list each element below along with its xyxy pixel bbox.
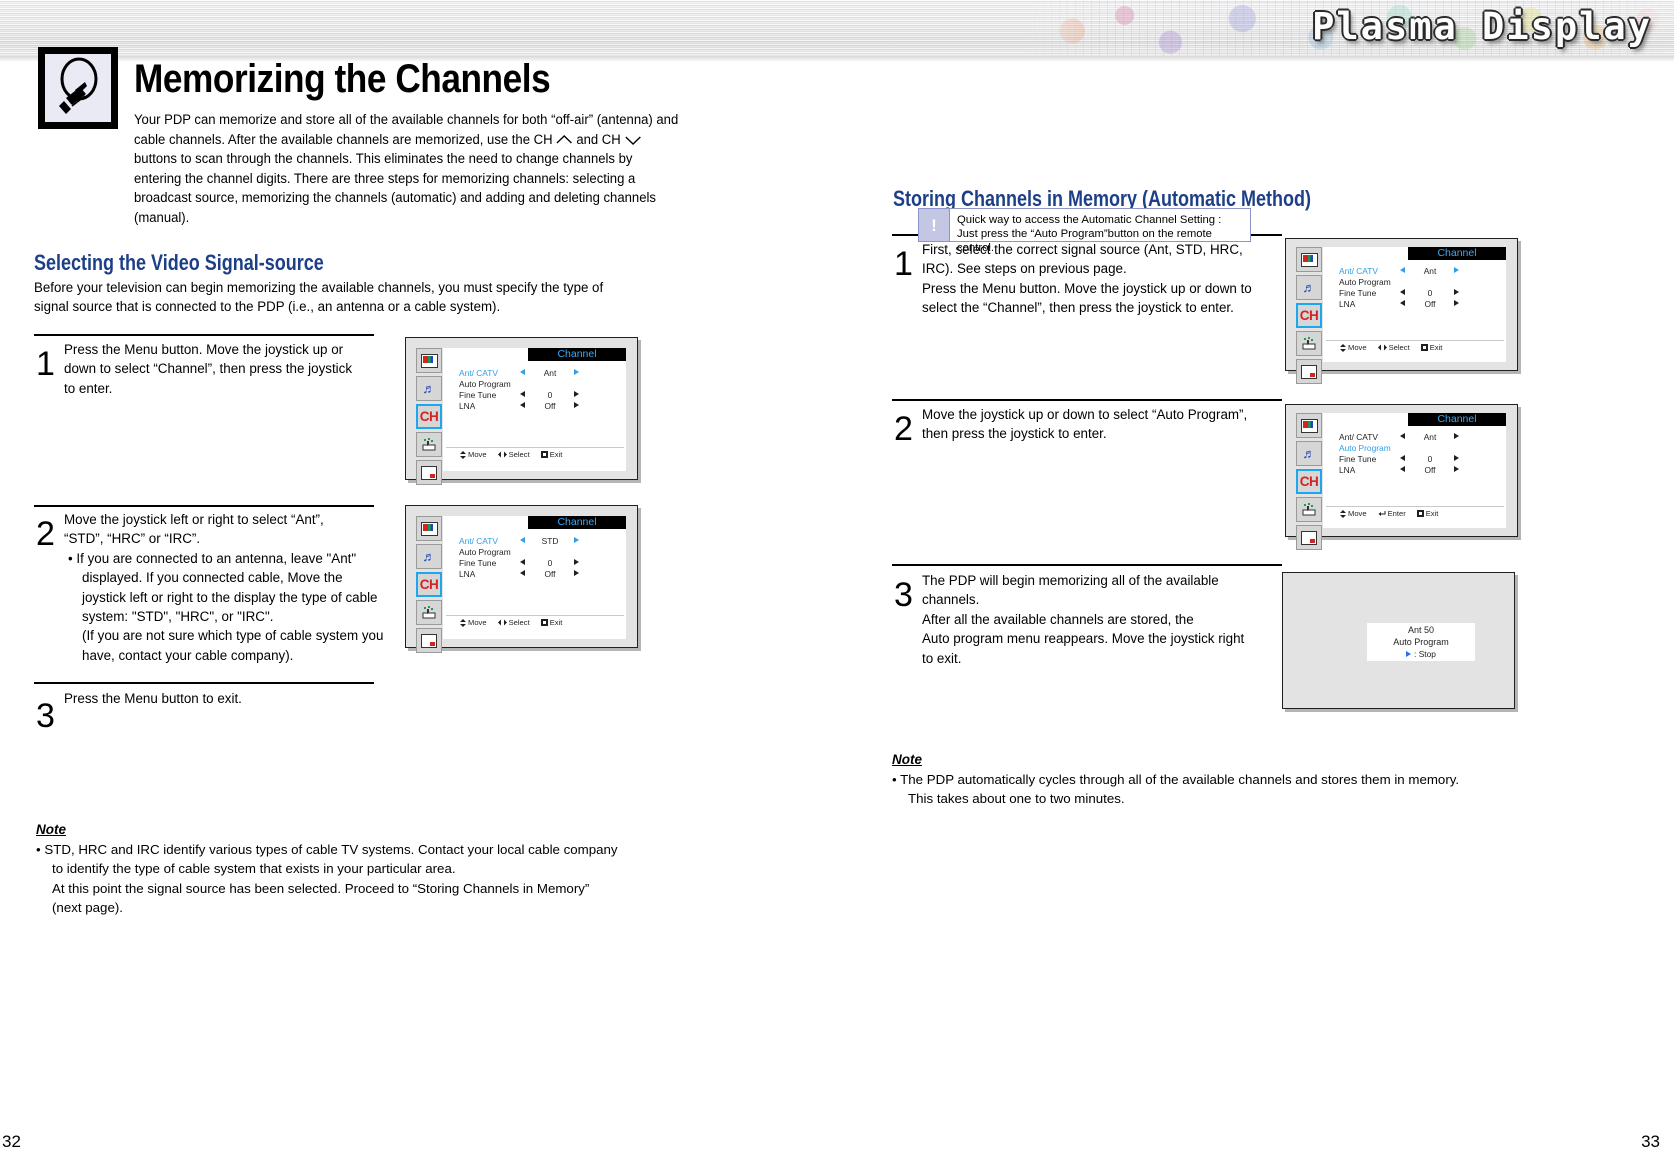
footer-move: Move [1340, 343, 1367, 352]
footer-label: Select [1389, 343, 1410, 352]
setup-icon[interactable] [416, 432, 442, 457]
note-line: (next page). [36, 898, 676, 917]
step-number: 2 [894, 412, 913, 446]
setup-icon[interactable] [1296, 497, 1322, 522]
footer-label: Exit [550, 450, 563, 459]
channel-icon[interactable]: CH [416, 404, 442, 429]
footer-select: Select [1378, 343, 1410, 352]
step-subline: joystick left or right to the display th… [64, 588, 409, 607]
channel-icon[interactable]: CH [1296, 303, 1322, 328]
osd-row-value: 0 [530, 390, 570, 400]
left-arrow-icon[interactable] [1400, 289, 1405, 295]
note-line: • STD, HRC and IRC identify various type… [36, 840, 676, 859]
left-arrow-icon[interactable] [520, 570, 525, 576]
setup-icon[interactable] [1296, 331, 1322, 356]
footer-label: Select [509, 450, 530, 459]
step-line: “STD”, “HRC” or “IRC”. [64, 531, 200, 546]
footer-label: Move [1348, 509, 1367, 518]
footer-label: Move [468, 618, 487, 627]
section-title-left: Selecting the Video Signal-source [34, 250, 324, 276]
osd-icon-rail: ♬ CH [1296, 247, 1322, 384]
footer-label: Move [1348, 343, 1367, 352]
step-divider [34, 334, 374, 336]
osd-row-label[interactable]: Fine Tune [459, 558, 496, 568]
left-arrow-icon[interactable] [1400, 455, 1405, 461]
osd-screenshot-right-step2: ♬ CH Channel Ant/ CATV Ant Auto Program … [1285, 404, 1518, 537]
osd-row-label[interactable]: Auto Program [459, 547, 511, 557]
left-arrow-icon[interactable] [1400, 433, 1405, 439]
osd-footer-divider [446, 447, 624, 448]
auto-program-result-screen: Ant 50 Auto Program : Stop [1282, 572, 1515, 709]
osd-footer: Move Select Exit [460, 450, 562, 459]
footer-exit: Exit [541, 450, 563, 459]
osd-row-value: Off [1410, 465, 1450, 475]
left-page: Selecting the Video Signal-source Before… [34, 62, 734, 1168]
step-line: to enter. [64, 381, 112, 396]
right-arrow-icon[interactable] [1454, 466, 1459, 472]
note-body: • STD, HRC and IRC identify various type… [36, 840, 676, 918]
step-text: Press the Menu button. Move the joystick… [64, 340, 394, 398]
left-arrow-icon[interactable] [520, 391, 525, 397]
right-arrow-icon[interactable] [574, 369, 579, 375]
osd-row-label[interactable]: Ant/ CATV [1339, 432, 1378, 442]
osd-row-label[interactable]: Ant/ CATV [1339, 266, 1378, 276]
footer-label: Enter [1388, 509, 1406, 518]
right-arrow-icon[interactable] [574, 559, 579, 565]
note-line: • The PDP automatically cycles through a… [892, 770, 1582, 789]
right-arrow-icon[interactable] [1454, 455, 1459, 461]
page-number-left: 32 [2, 1132, 21, 1152]
note-line: This takes about one to two minutes. [892, 789, 1582, 808]
osd-row-label[interactable]: Fine Tune [459, 390, 496, 400]
right-arrow-icon[interactable] [574, 537, 579, 543]
step-text: Move the joystick left or right to selec… [64, 510, 409, 665]
step-divider [892, 399, 1282, 401]
status-stop-label: : Stop [1414, 649, 1436, 659]
right-arrow-icon[interactable] [574, 570, 579, 576]
auto-program-status-panel: Ant 50 Auto Program : Stop [1367, 623, 1475, 661]
step-subline: displayed. If you connected cable, Move … [64, 568, 409, 587]
osd-row-label[interactable]: Ant/ CATV [459, 536, 498, 546]
osd-row-label[interactable]: Auto Program [1339, 443, 1391, 453]
left-arrow-icon[interactable] [1400, 300, 1405, 306]
channel-icon[interactable]: CH [1296, 469, 1322, 494]
osd-icon-rail: ♬ CH [416, 516, 442, 653]
step-line: After all the available channels are sto… [922, 612, 1194, 627]
right-arrow-icon[interactable] [574, 402, 579, 408]
right-arrow-icon[interactable] [1454, 433, 1459, 439]
osd-row-label[interactable]: LNA [459, 401, 475, 411]
tip-text: Quick way to access the Automatic Channe… [950, 209, 1250, 241]
left-arrow-icon[interactable] [1400, 267, 1405, 273]
status-stop: : Stop [1406, 649, 1436, 659]
setup-icon[interactable] [416, 600, 442, 625]
right-arrow-icon[interactable] [1454, 267, 1459, 273]
osd-row-value: Off [530, 569, 570, 579]
footer-select: Select [498, 618, 530, 627]
osd-screenshot-step2: ♬ CH Channel Ant/ CATV STD Auto Program … [405, 505, 638, 648]
footer-label: Exit [1426, 509, 1439, 518]
play-arrow-icon [1406, 651, 1411, 657]
note-heading: Note [36, 822, 66, 837]
status-channel: Ant 50 [1408, 625, 1434, 635]
step-number: 2 [36, 517, 55, 551]
osd-row-value: 0 [1410, 288, 1450, 298]
osd-row-value: 0 [530, 558, 570, 568]
osd-row-label[interactable]: Ant/ CATV [459, 368, 498, 378]
osd-row-label[interactable]: LNA [459, 569, 475, 579]
footer-select: Select [498, 450, 530, 459]
step-line: Move the joystick left or right to selec… [64, 512, 324, 527]
step-text: Move the joystick up or down to select “… [922, 405, 1302, 444]
footer-exit: Exit [1417, 509, 1439, 518]
osd-row-label[interactable]: LNA [1339, 465, 1355, 475]
step-line: IRC). See steps on previous page. [922, 261, 1127, 276]
sound-icon[interactable]: ♬ [1296, 441, 1322, 466]
step-line: down to select “Channel”, then press the… [64, 361, 352, 376]
osd-footer-divider [1326, 506, 1504, 507]
osd-row-value: STD [530, 536, 570, 546]
pip-icon[interactable] [1296, 525, 1322, 550]
step-line: Press the Menu button. Move the joystick… [922, 281, 1252, 296]
footer-move: Move [460, 450, 487, 459]
picture-icon[interactable] [1296, 247, 1322, 272]
picture-icon[interactable] [416, 348, 442, 373]
pip-icon[interactable] [416, 628, 442, 653]
left-arrow-icon[interactable] [520, 559, 525, 565]
osd-title: Channel [528, 516, 626, 529]
step-line: then press the joystick to enter. [922, 426, 1107, 441]
step-number: 1 [36, 347, 55, 381]
osd-icon-rail: ♬ CH [1296, 413, 1322, 550]
footer-label: Select [509, 618, 530, 627]
osd-row-value: Ant [1410, 432, 1450, 442]
note-body: • The PDP automatically cycles through a… [892, 770, 1582, 809]
note-heading: Note [892, 752, 922, 767]
status-title: Auto Program [1393, 637, 1449, 647]
right-arrow-icon[interactable] [574, 391, 579, 397]
step-divider [892, 564, 1282, 566]
picture-icon[interactable] [416, 516, 442, 541]
osd-screenshot-step1: ♬ CH Channel Ant/ CATV Ant Auto Program … [405, 337, 638, 480]
osd-row-value: Ant [1410, 266, 1450, 276]
footer-label: Exit [550, 618, 563, 627]
tip-callout: ! Quick way to access the Automatic Chan… [918, 208, 1251, 242]
footer-label: Exit [1430, 343, 1443, 352]
step-line: Press the Menu button to exit. [64, 691, 242, 706]
step-divider [34, 505, 374, 507]
step-text: The PDP will begin memorizing all of the… [922, 571, 1302, 668]
footer-label: Move [468, 450, 487, 459]
step-subline: • If you are connected to an antenna, le… [64, 549, 409, 568]
osd-footer: Move Select Exit [460, 618, 562, 627]
osd-footer-divider [1326, 340, 1504, 341]
step-line: to exit. [922, 651, 961, 666]
step-subline: (If you are not sure which type of cable… [64, 626, 409, 645]
osd-footer: Move Select Exit [1340, 343, 1442, 352]
osd-screenshot-right-step1: ♬ CH Channel Ant/ CATV Ant Auto Program … [1285, 238, 1518, 371]
osd-title: Channel [1408, 247, 1506, 260]
banner-title: Plasma Display [1312, 5, 1652, 48]
osd-row-value: Off [1410, 299, 1450, 309]
step-line: select the “Channel”, then press the joy… [922, 300, 1234, 315]
top-banner: Plasma Display [0, 0, 1674, 62]
sound-icon[interactable]: ♬ [416, 376, 442, 401]
sound-icon[interactable]: ♬ [416, 544, 442, 569]
step-number: 3 [36, 699, 55, 733]
osd-footer: Move Enter Exit [1340, 509, 1438, 518]
osd-row-label[interactable]: Auto Program [1339, 277, 1391, 287]
right-arrow-icon[interactable] [1454, 300, 1459, 306]
sound-icon[interactable]: ♬ [1296, 275, 1322, 300]
page-number-right: 33 [1641, 1132, 1660, 1152]
note-line: At this point the signal source has been… [36, 879, 676, 898]
osd-row-value: 0 [1410, 454, 1450, 464]
left-arrow-icon[interactable] [520, 537, 525, 543]
pip-icon[interactable] [1296, 359, 1322, 384]
footer-exit: Exit [1421, 343, 1443, 352]
step-line: channels. [922, 592, 979, 607]
note-line: to identify the type of cable system tha… [36, 859, 676, 878]
footer-enter: Enter [1378, 509, 1406, 518]
step-number: 1 [894, 247, 913, 281]
osd-footer-divider [446, 615, 624, 616]
step-subline: have, contact your cable company). [64, 646, 409, 665]
exclamation-icon: ! [919, 209, 950, 241]
footer-move: Move [1340, 509, 1367, 518]
osd-row-value: Off [530, 401, 570, 411]
step-line: Press the Menu button. Move the joystick… [64, 342, 343, 357]
left-arrow-icon[interactable] [1400, 466, 1405, 472]
channel-icon[interactable]: CH [416, 572, 442, 597]
step-number: 3 [894, 578, 913, 612]
step-line: Move the joystick up or down to select “… [922, 407, 1247, 422]
osd-row-label[interactable]: LNA [1339, 299, 1355, 309]
footer-exit: Exit [541, 618, 563, 627]
osd-title: Channel [1408, 413, 1506, 426]
section-body-left: Before your television can begin memoriz… [34, 278, 625, 316]
osd-row-label[interactable]: Fine Tune [1339, 454, 1376, 464]
step-subline: system: "STD", "HRC", or "IRC". [64, 607, 409, 626]
step-line: Auto program menu reappears. Move the jo… [922, 631, 1244, 646]
tip-line: Quick way to access the Automatic Channe… [957, 214, 1221, 226]
right-page: Storing Channels in Memory (Automatic Me… [890, 62, 1630, 1168]
right-arrow-icon[interactable] [1454, 289, 1459, 295]
osd-icon-rail: ♬ CH [416, 348, 442, 485]
osd-row-value: Ant [530, 368, 570, 378]
left-arrow-icon[interactable] [520, 402, 525, 408]
step-divider [34, 682, 374, 684]
osd-row-label[interactable]: Auto Program [459, 379, 511, 389]
footer-move: Move [460, 618, 487, 627]
osd-row-label[interactable]: Fine Tune [1339, 288, 1376, 298]
step-line: The PDP will begin memorizing all of the… [922, 573, 1219, 588]
picture-icon[interactable] [1296, 413, 1322, 438]
osd-title: Channel [528, 348, 626, 361]
left-arrow-icon[interactable] [520, 369, 525, 375]
pip-icon[interactable] [416, 460, 442, 485]
step-text: Press the Menu button to exit. [64, 689, 394, 708]
